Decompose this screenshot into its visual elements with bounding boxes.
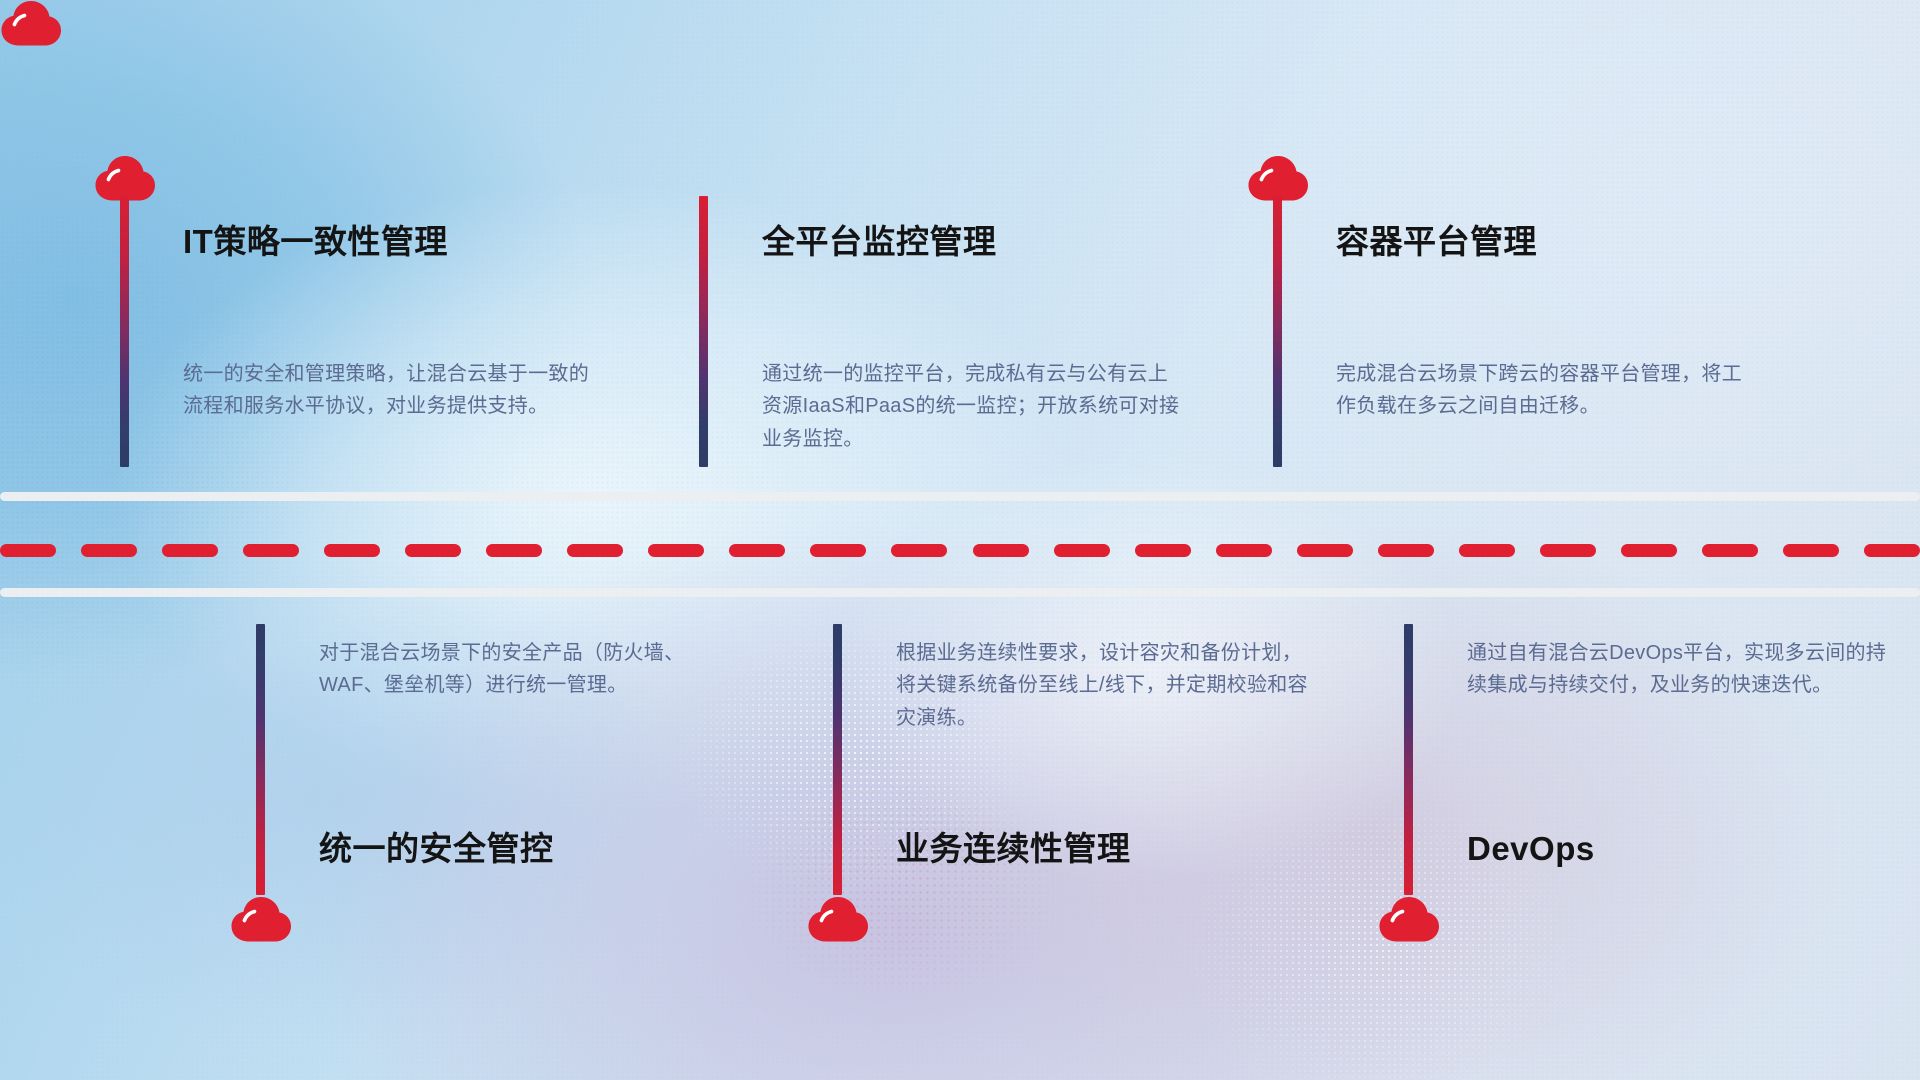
divider-dash-segment	[1054, 544, 1110, 557]
divider-dash-segment	[1864, 544, 1920, 557]
connector-stem	[256, 624, 265, 895]
divider-top-rule	[0, 492, 1920, 501]
divider-dash-segment	[243, 544, 299, 557]
item-title: 容器平台管理	[1336, 225, 1537, 258]
divider-dash-segment	[162, 544, 218, 557]
item-description: 通过统一的监控平台，完成私有云与公有云上资源IaaS和PaaS的统一监控；开放系…	[762, 358, 1182, 455]
divider-dash-segment	[567, 544, 623, 557]
item-description: 统一的安全和管理策略，让混合云基于一致的流程和服务水平协议，对业务提供支持。	[183, 358, 603, 423]
item-title: 全平台监控管理	[762, 225, 997, 258]
divider-dash-segment	[1135, 544, 1191, 557]
connector-stem	[699, 196, 708, 467]
divider-dash-segment	[1621, 544, 1677, 557]
divider-dash-segment	[324, 544, 380, 557]
connector-stem	[1404, 624, 1413, 895]
connector-stem	[120, 196, 129, 467]
cloud-icon	[1378, 896, 1440, 942]
connector-stem	[1273, 196, 1282, 467]
cloud-icon	[0, 0, 62, 46]
divider-bottom-rule	[0, 588, 1920, 597]
connector-stem	[833, 624, 842, 895]
item-title: 统一的安全管控	[319, 832, 554, 865]
divider-dash-segment	[81, 544, 137, 557]
item-title: IT策略一致性管理	[183, 225, 448, 258]
divider-dash-segment	[1702, 544, 1758, 557]
divider-dash-segment	[1378, 544, 1434, 557]
divider-dash-segment	[729, 544, 785, 557]
divider-dash-segment	[810, 544, 866, 557]
divider-dash-segment	[1216, 544, 1272, 557]
cloud-icon	[1247, 155, 1309, 201]
divider-dash-segment	[486, 544, 542, 557]
divider-dash-segment	[891, 544, 947, 557]
item-description: 完成混合云场景下跨云的容器平台管理，将工作负载在多云之间自由迁移。	[1336, 358, 1756, 423]
item-description: 通过自有混合云DevOps平台，实现多云间的持续集成与持续交付，及业务的快速迭代…	[1467, 637, 1887, 702]
item-description: 对于混合云场景下的安全产品（防火墙、WAF、堡垒机等）进行统一管理。	[319, 637, 739, 702]
item-title: 业务连续性管理	[896, 832, 1131, 865]
cloud-icon	[94, 155, 156, 201]
divider-dash-segment	[648, 544, 704, 557]
infographic-canvas: IT策略一致性管理 统一的安全和管理策略，让混合云基于一致的流程和服务水平协议，…	[0, 0, 1920, 1080]
cloud-icon	[230, 896, 292, 942]
item-title: DevOps	[1467, 832, 1595, 865]
divider-dash-segment	[0, 544, 56, 557]
cloud-icon	[807, 896, 869, 942]
divider-dash-segment	[1540, 544, 1596, 557]
divider-dash-segment	[405, 544, 461, 557]
divider-dash-segment	[973, 544, 1029, 557]
item-description: 根据业务连续性要求，设计容灾和备份计划，将关键系统备份至线上/线下，并定期校验和…	[896, 637, 1316, 734]
divider-dash-segment	[1783, 544, 1839, 557]
divider-dashed-line	[0, 544, 1920, 557]
divider-dash-segment	[1459, 544, 1515, 557]
divider-dash-segment	[1297, 544, 1353, 557]
